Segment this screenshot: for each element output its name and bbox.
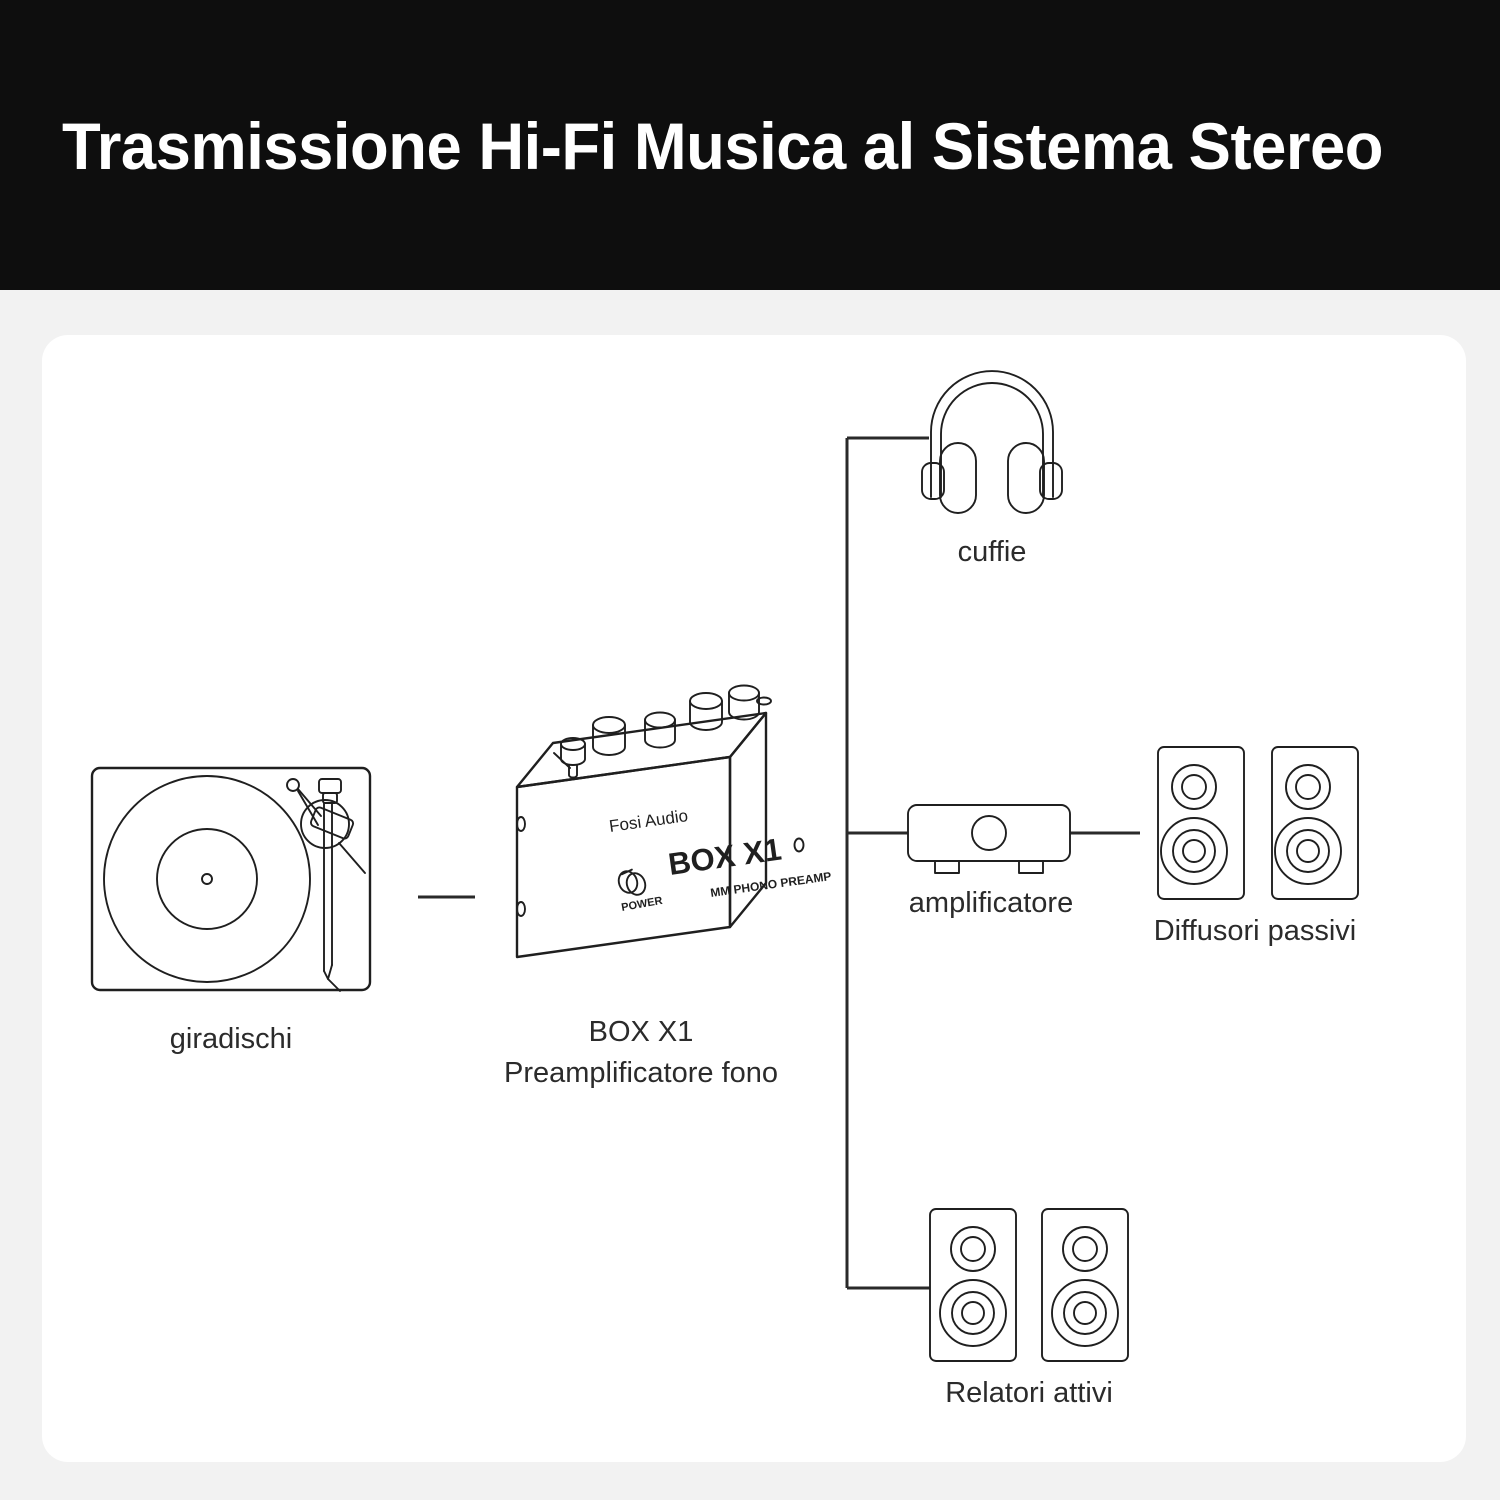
preamp-power-label: POWER	[620, 895, 663, 914]
active-speakers-label: Relatori attivi	[945, 1377, 1113, 1409]
headphones-label: cuffie	[958, 536, 1027, 568]
page-title: Trasmissione Hi-Fi Musica al Sistema Ste…	[62, 104, 1383, 188]
preamp-knobs	[554, 686, 771, 778]
header-banner: Trasmissione Hi-Fi Musica al Sistema Ste…	[0, 0, 1500, 290]
preamp-label-line1: BOX X1	[589, 1016, 694, 1048]
headphones-icon: cuffie	[922, 371, 1062, 568]
passive-speakers-label: Diffusori passivi	[1154, 915, 1357, 947]
turntable-icon: giradischi	[92, 768, 370, 1055]
connection-diagram: giradischi	[42, 335, 1466, 1462]
phono-preamp-icon: Fosi Audio BOX X1 MM PHONO PREAMP POWER …	[504, 686, 832, 1090]
amplifier-label: amplificatore	[909, 887, 1073, 919]
preamp-label-line2: Preamplificatore fono	[504, 1057, 778, 1089]
amplifier-icon: amplificatore	[908, 805, 1073, 919]
preamp-power-button: POWER	[616, 869, 664, 914]
turntable-label: giradischi	[170, 1023, 293, 1055]
preamp-brand-text: Fosi Audio	[608, 806, 689, 836]
passive-speakers-icon: Diffusori passivi	[1154, 747, 1358, 947]
active-speakers-icon: Relatori attivi	[930, 1209, 1128, 1409]
